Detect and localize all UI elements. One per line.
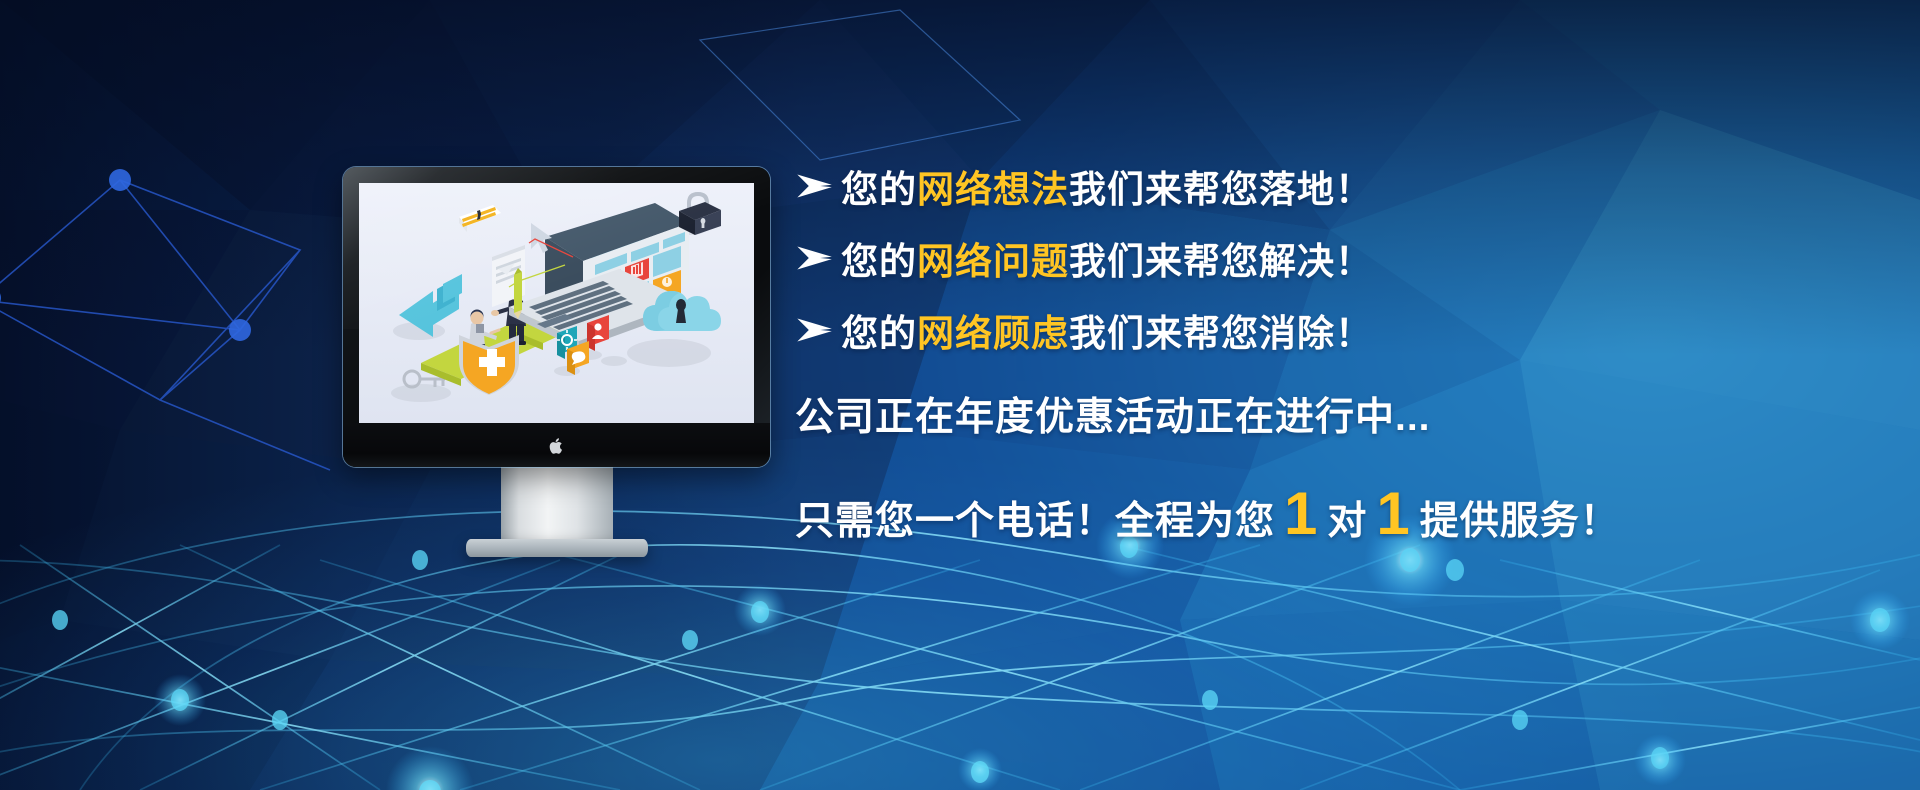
apple-logo [549, 437, 564, 455]
bullet-text-3: 您的网络顾虑我们来帮您消除！ [841, 303, 1373, 357]
bullet-row-1: 您的网络想法我们来帮您落地！ [795, 150, 1795, 222]
bullet-2-post: 我们来帮您解决！ [1069, 241, 1373, 282]
bullet-3-post: 我们来帮您消除！ [1069, 313, 1373, 354]
bullet-text-2: 您的网络问题我们来帮您解决！ [841, 231, 1373, 285]
bullet-3-pre: 您的 [841, 313, 917, 354]
cta-number-one-b: 1 [1367, 484, 1419, 544]
bullet-2-highlight: 网络问题 [917, 241, 1069, 282]
cta-line: 只需您一个电话！全程为您 1 对 1 提供服务！ [795, 484, 1795, 546]
monitor-stand-neck [501, 467, 613, 543]
arrow-bullet-icon [795, 315, 841, 345]
banner-text-block: 您的网络想法我们来帮您落地！ 您的网络问题我们来帮您解决！ 您的网络顾虑我们来帮… [795, 150, 1795, 546]
isometric-illustration [359, 183, 754, 423]
monitor-stand-foot [466, 539, 648, 557]
bullet-row-2: 您的网络问题我们来帮您解决！ [795, 222, 1795, 294]
cta-part2: 提供服务！ [1420, 490, 1620, 546]
monitor-screen [359, 183, 754, 423]
promo-line: 公司正在年度优惠活动正在进行中... [795, 386, 1795, 442]
cta-part1: 只需您一个电话！全程为您 [795, 490, 1275, 546]
bullet-1-highlight: 网络想法 [917, 169, 1069, 210]
desktop-monitor [343, 167, 770, 467]
bullet-row-3: 您的网络顾虑我们来帮您消除！ [795, 294, 1795, 366]
arrow-bullet-icon [795, 243, 841, 273]
cta-middle: 对 [1327, 490, 1367, 546]
arrow-bullet-icon [795, 171, 841, 201]
bullet-text-1: 您的网络想法我们来帮您落地！ [841, 159, 1373, 213]
monitor-chin [343, 423, 770, 467]
bullet-2-pre: 您的 [841, 241, 917, 282]
monitor-bezel [343, 167, 770, 467]
bullet-1-post: 我们来帮您落地！ [1069, 169, 1373, 210]
promotional-banner: 您的网络想法我们来帮您落地！ 您的网络问题我们来帮您解决！ 您的网络顾虑我们来帮… [0, 0, 1920, 790]
bullet-3-highlight: 网络顾虑 [917, 313, 1069, 354]
pencil-icon [514, 268, 522, 319]
cta-number-one-a: 1 [1275, 484, 1327, 544]
bullet-1-pre: 您的 [841, 169, 917, 210]
